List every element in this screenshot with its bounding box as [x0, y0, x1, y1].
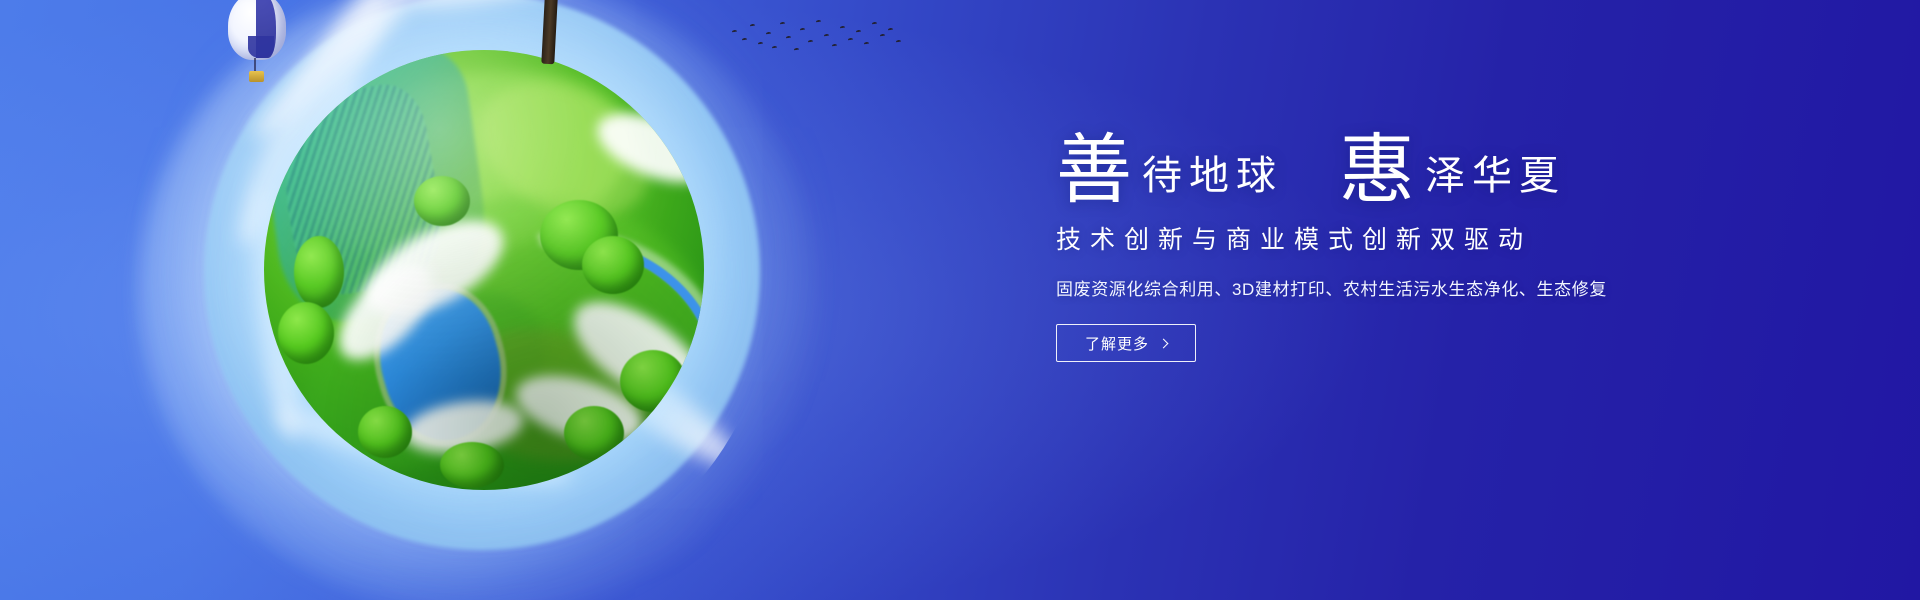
headline-part2-large: 惠	[1339, 132, 1415, 208]
subtitle: 技术创新与商业模式创新双驱动	[1056, 220, 1816, 256]
bush	[582, 236, 644, 294]
bird-flock	[728, 12, 908, 66]
headline-part1-large: 善	[1056, 132, 1132, 208]
river-bank	[427, 187, 704, 490]
headline-part2-small: 泽华夏	[1415, 156, 1566, 196]
bush	[358, 406, 412, 458]
hot-air-balloon-icon	[228, 0, 286, 86]
tree-trunk	[541, 0, 559, 64]
bush	[294, 236, 344, 308]
learn-more-button[interactable]: 了解更多	[1056, 324, 1196, 362]
headline-part1-small: 待地球	[1132, 156, 1283, 196]
lake	[364, 277, 519, 454]
learn-more-label: 了解更多	[1085, 333, 1149, 354]
bush	[564, 406, 624, 460]
banner-content: 善 待地球 惠 泽华夏 技术创新与商业模式创新双驱动 固废资源化综合利用、3D建…	[1056, 126, 1816, 362]
bush	[278, 302, 334, 364]
globe-illustration	[168, 0, 768, 600]
bush	[414, 176, 470, 226]
hero-banner: 善 待地球 惠 泽华夏 技术创新与商业模式创新双驱动 固废资源化综合利用、3D建…	[0, 0, 1920, 600]
bush	[540, 200, 618, 270]
large-tree	[458, 0, 648, 64]
green-planet	[264, 50, 704, 490]
description: 固废资源化综合利用、3D建材打印、农村生活污水生态净化、生态修复	[1056, 275, 1816, 300]
bush	[620, 350, 686, 412]
bush	[440, 442, 504, 488]
headline: 善 待地球 惠 泽华夏	[1056, 126, 1816, 202]
chevron-right-icon	[1159, 338, 1169, 348]
